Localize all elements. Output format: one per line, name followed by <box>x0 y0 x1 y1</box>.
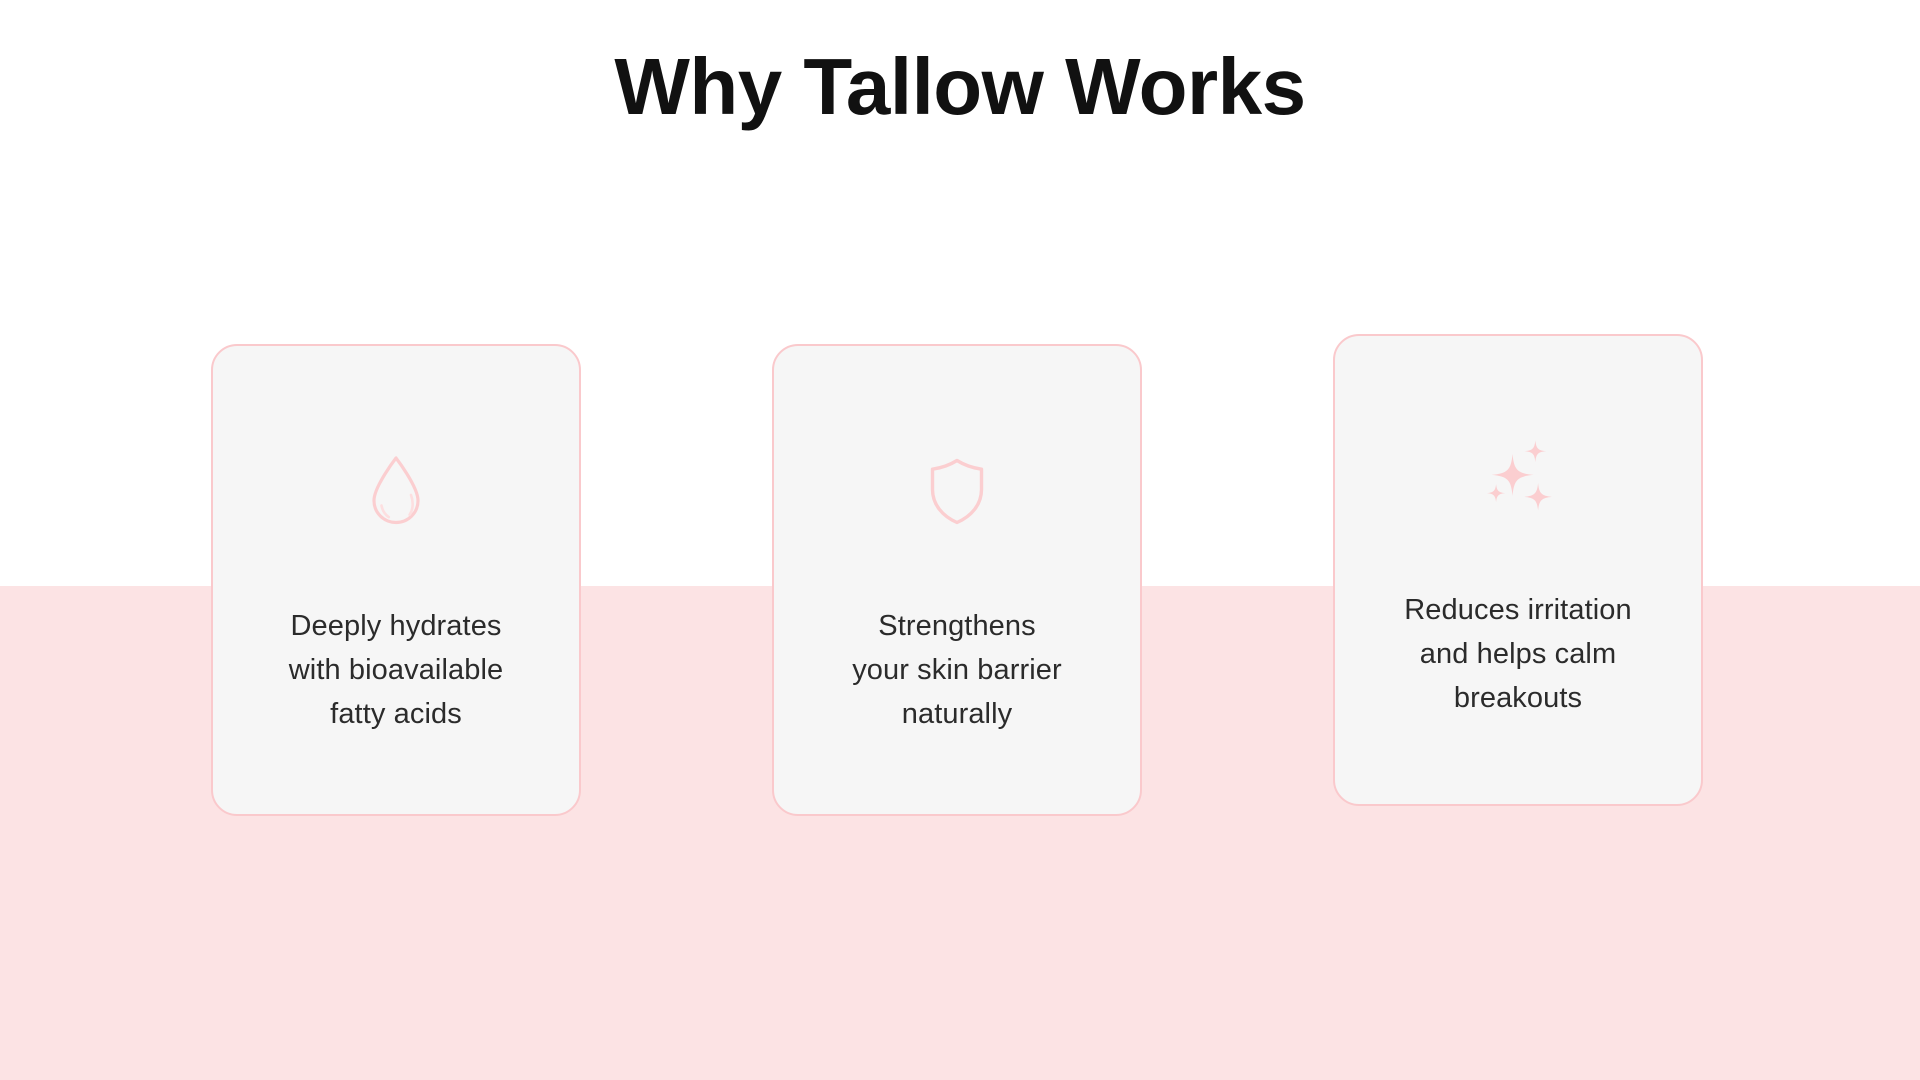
benefit-card-text: Strengthens your skin barrier naturally <box>802 604 1112 736</box>
benefit-card-hydration[interactable]: Deeply hydrates with bioavailable fatty … <box>211 344 581 816</box>
sparkles-icon <box>1476 432 1560 516</box>
water-droplet-icon <box>354 448 438 532</box>
benefit-card-calm[interactable]: Reduces irritation and helps calm breako… <box>1333 334 1703 806</box>
benefit-card-barrier[interactable]: Strengthens your skin barrier naturally <box>772 344 1142 816</box>
shield-icon <box>915 448 999 532</box>
benefit-card-text: Deeply hydrates with bioavailable fatty … <box>241 604 551 736</box>
benefit-cards-row: Deeply hydrates with bioavailable fatty … <box>0 0 1920 1080</box>
benefits-section: Why Tallow Works Deeply hydrates with bi… <box>0 0 1920 1080</box>
benefit-card-text: Reduces irritation and helps calm breako… <box>1363 588 1673 720</box>
